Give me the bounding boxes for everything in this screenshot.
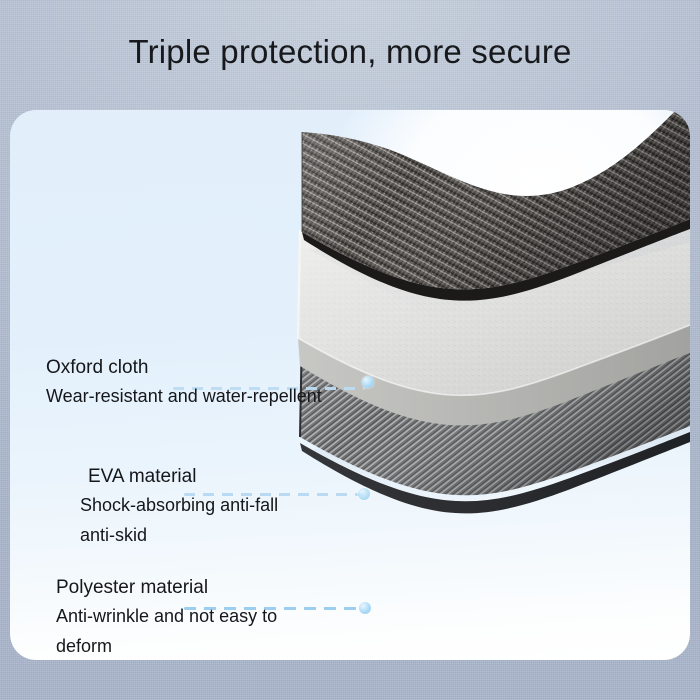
callout-eva-description-line-1: Shock-absorbing anti-fall [80, 490, 278, 520]
feature-card: Oxford cloth Wear-resistant and water-re… [10, 110, 690, 660]
callout-oxford-title: Oxford cloth [46, 355, 322, 381]
page-title: Triple protection, more secure [0, 32, 700, 72]
callout-polyester-title: Polyester material [56, 575, 277, 601]
callout-polyester-description-line-1: Anti-wrinkle and not easy to [56, 601, 277, 631]
callout-eva-title: EVA material [80, 464, 278, 490]
callout-dot-eva [358, 488, 370, 500]
callout-dot-polyester [359, 602, 371, 614]
callout-dot-oxford [362, 376, 374, 388]
callout-oxford: Oxford cloth Wear-resistant and water-re… [46, 355, 322, 411]
callout-polyester-description-line-2: deform [56, 631, 277, 660]
callout-polyester: Polyester material Anti-wrinkle and not … [56, 575, 277, 660]
callout-oxford-description: Wear-resistant and water-repellent [46, 381, 322, 411]
infographic-stage: Triple protection, more secure [0, 0, 700, 700]
callout-eva: EVA material Shock-absorbing anti-fall a… [80, 464, 278, 550]
callout-eva-description-line-2: anti-skid [80, 520, 278, 550]
